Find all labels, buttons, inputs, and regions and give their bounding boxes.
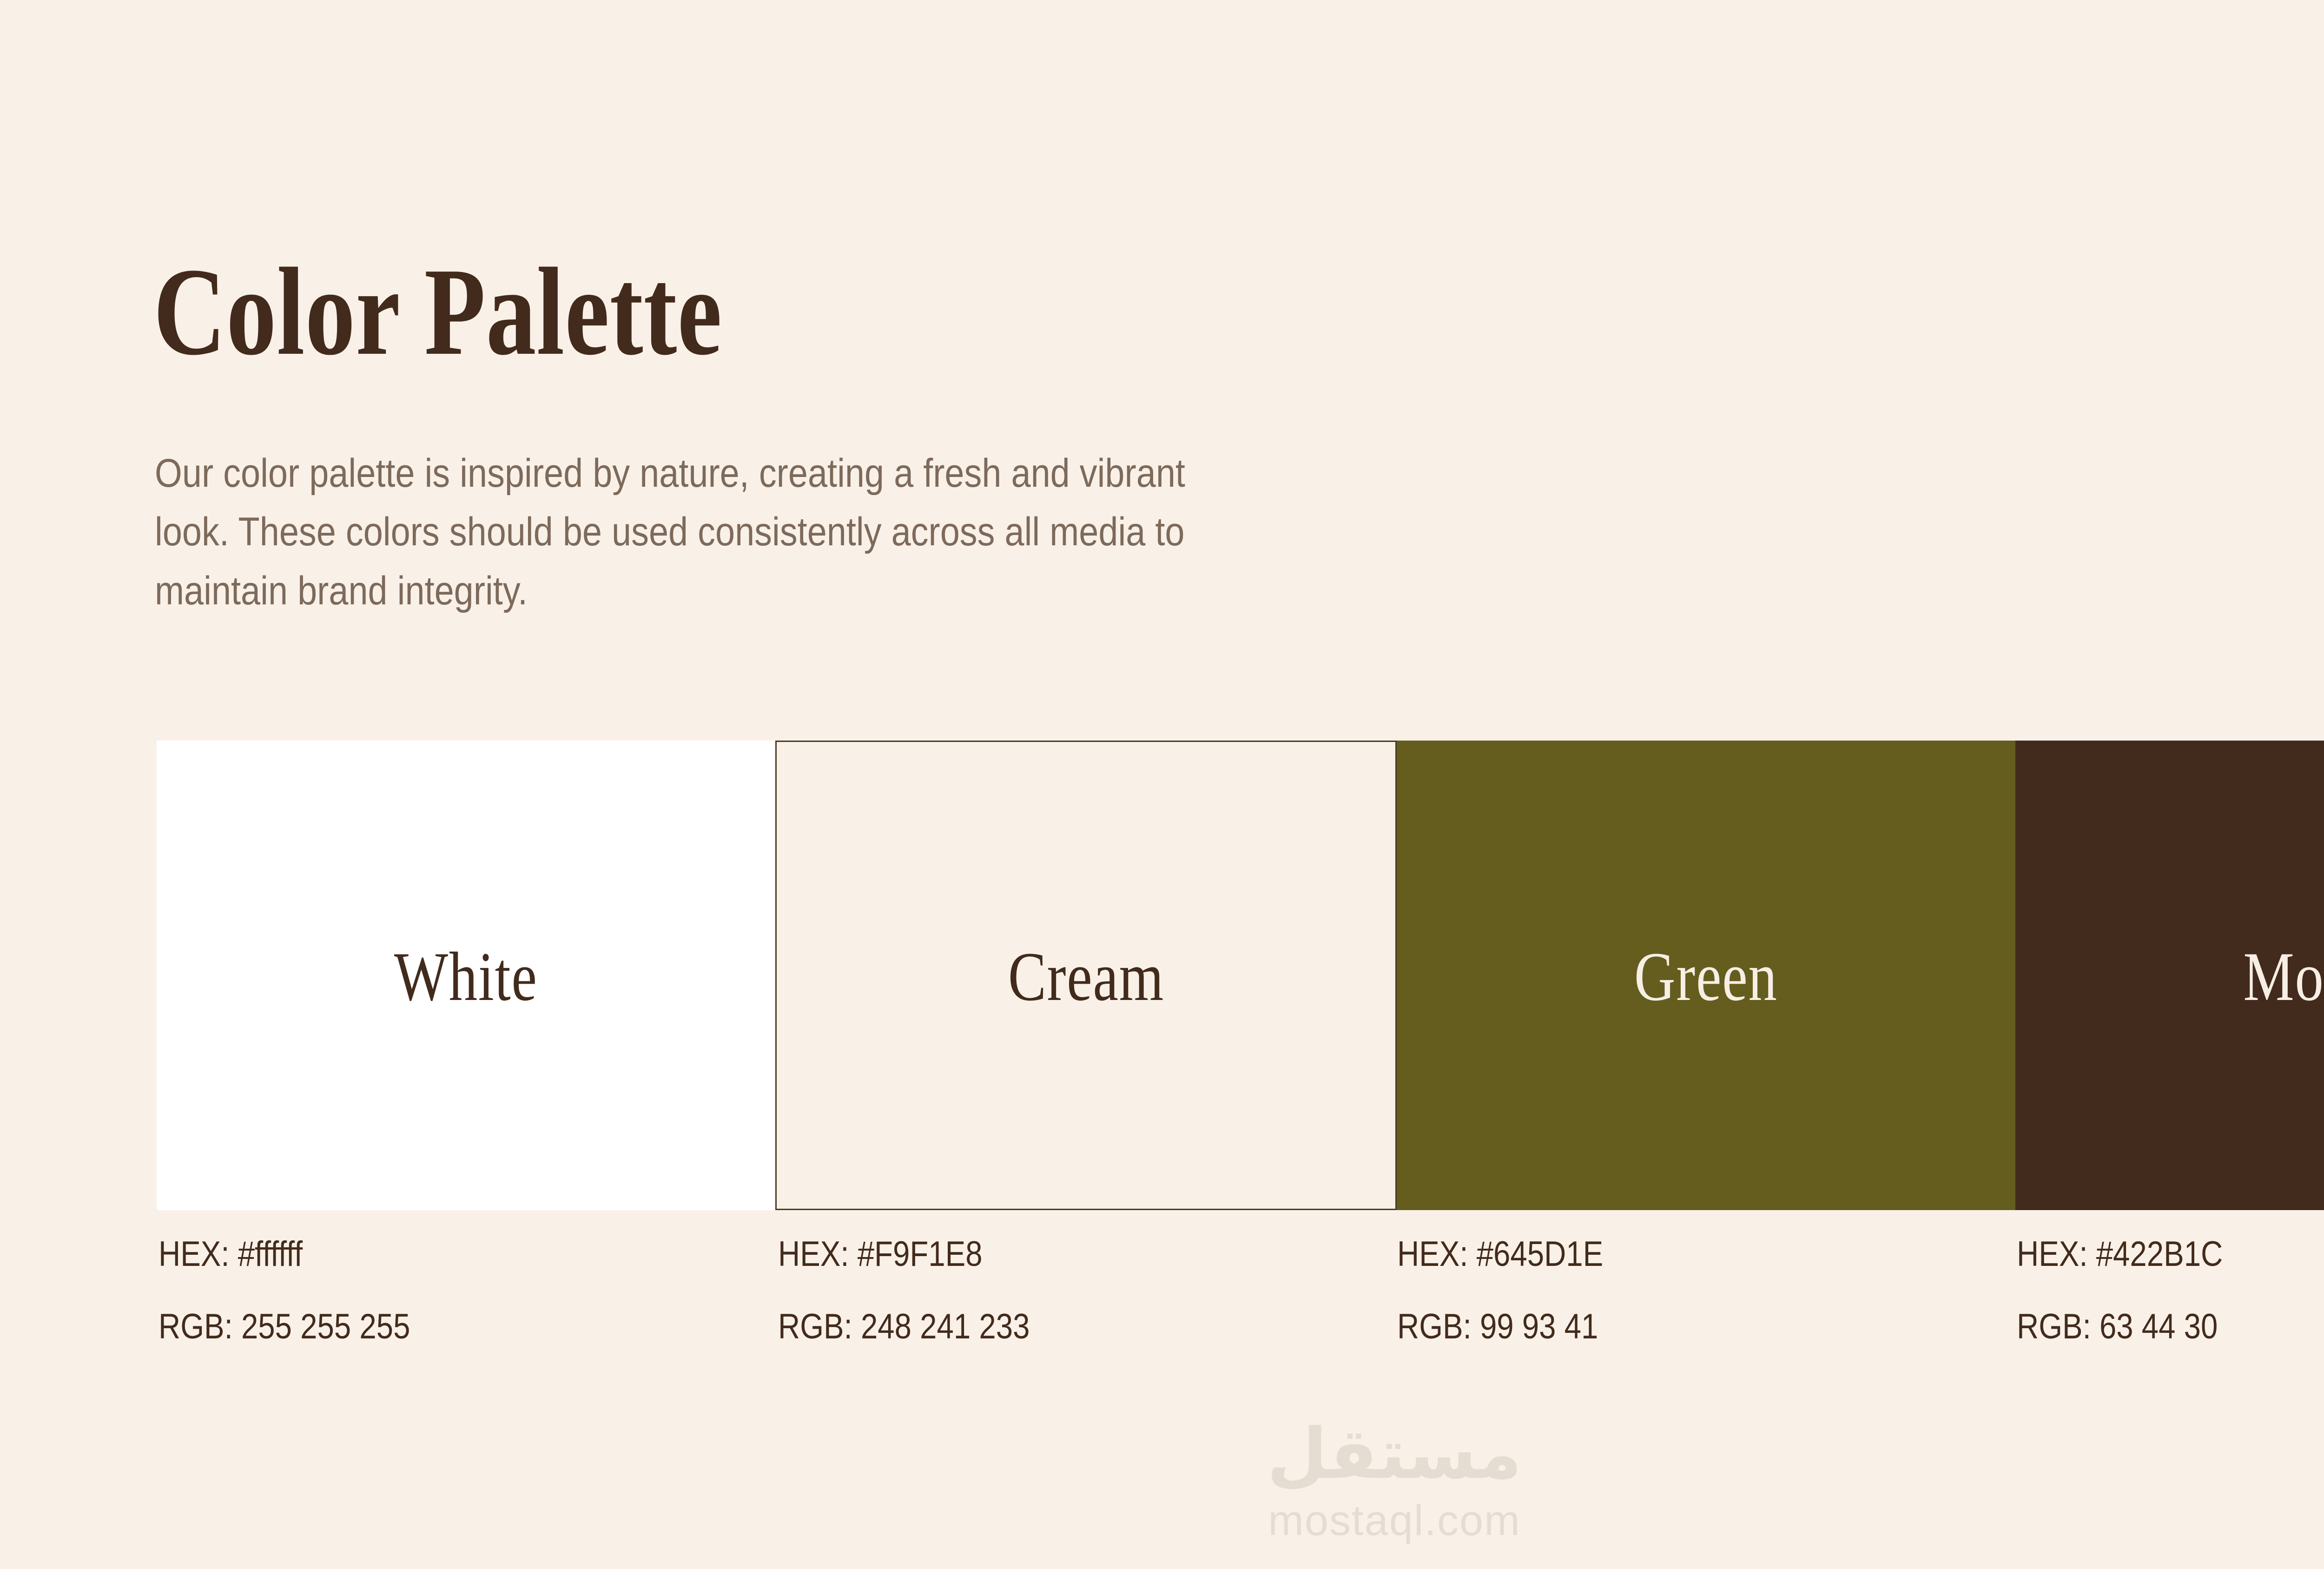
watermark: مستقل mostaql.com <box>0 1419 2324 1542</box>
rgb-value: RGB: 248 241 233 <box>778 1309 1309 1344</box>
watermark-domain: mostaql.com <box>1268 1499 1521 1542</box>
rgb-value: RGB: 63 44 30 <box>2017 1309 2324 1344</box>
caption-cream: HEX: #F9F1E8 RGB: 248 241 233 <box>776 1237 1396 1362</box>
rgb-value: RGB: 99 93 41 <box>1397 1309 1928 1344</box>
hex-value: HEX: #645D1E <box>1397 1237 1928 1272</box>
swatch-label: Green <box>1634 942 1778 1012</box>
swatch-label: White <box>394 942 538 1012</box>
caption-mocha: HEX: #422B1C RGB: 63 44 30 <box>2015 1237 2324 1362</box>
rgb-value: RGB: 255 255 255 <box>158 1309 690 1344</box>
caption-white: HEX: #ffffff RGB: 255 255 255 <box>157 1237 776 1362</box>
swatch-captions-row: HEX: #ffffff RGB: 255 255 255 HEX: #F9F1… <box>157 1237 2324 1362</box>
swatch-white[interactable]: White <box>157 741 775 1210</box>
watermark-arabic-logo: مستقل <box>1267 1419 1522 1489</box>
swatch-label: Cream <box>1008 942 1164 1012</box>
intro-line-1: Our color palette is inspired by nature,… <box>155 444 1259 503</box>
color-swatch-row: White Cream Green Mocha <box>157 741 2324 1210</box>
intro-line-2: look. These colors should be used consis… <box>155 503 1259 561</box>
caption-green: HEX: #645D1E RGB: 99 93 41 <box>1395 1237 2015 1362</box>
hex-value: HEX: #F9F1E8 <box>778 1237 1309 1272</box>
swatch-green[interactable]: Green <box>1397 741 2015 1210</box>
swatch-mocha[interactable]: Mocha <box>2015 741 2324 1210</box>
swatch-label: Mocha <box>2244 942 2324 1012</box>
hex-value: HEX: #422B1C <box>2017 1237 2324 1272</box>
page-title: Color Palette <box>153 249 722 375</box>
hex-value: HEX: #ffffff <box>158 1237 690 1272</box>
swatch-cream[interactable]: Cream <box>775 741 1397 1210</box>
slide-canvas: Color Palette Our color palette is inspi… <box>0 0 2324 1569</box>
intro-paragraph: Our color palette is inspired by nature,… <box>155 444 1259 620</box>
intro-line-3: maintain brand integrity. <box>155 562 1259 620</box>
